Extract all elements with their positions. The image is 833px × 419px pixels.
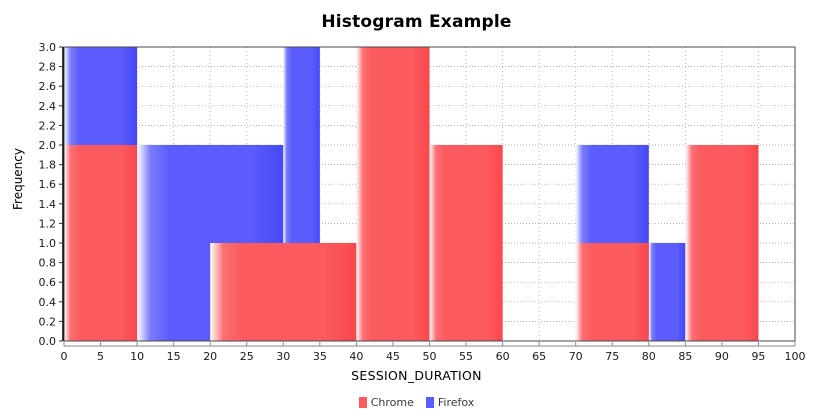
svg-text:1.0: 1.0: [39, 237, 57, 250]
svg-text:75: 75: [605, 350, 619, 363]
histogram-bar: [576, 243, 649, 341]
svg-text:3.0: 3.0: [39, 41, 57, 54]
svg-text:35: 35: [313, 350, 327, 363]
legend-label-firefox: Firefox: [438, 396, 474, 409]
histogram-bar: [649, 243, 686, 341]
svg-text:100: 100: [785, 350, 806, 363]
svg-text:80: 80: [642, 350, 656, 363]
svg-text:2.0: 2.0: [39, 139, 57, 152]
plot-area: 0.00.20.40.60.81.01.21.41.61.82.02.22.42…: [0, 0, 833, 419]
legend-label-chrome: Chrome: [371, 396, 414, 409]
svg-text:10: 10: [130, 350, 144, 363]
x-axis-ticks: 0510152025303540455055606570758085909510…: [61, 342, 806, 363]
x-axis-label: SESSION_DURATION: [0, 368, 833, 383]
svg-text:55: 55: [459, 350, 473, 363]
svg-text:1.4: 1.4: [39, 198, 57, 211]
chart-legend: Chrome Firefox: [0, 396, 833, 409]
histogram-bar: [685, 145, 758, 341]
svg-text:25: 25: [240, 350, 254, 363]
svg-text:70: 70: [569, 350, 583, 363]
svg-text:50: 50: [423, 350, 437, 363]
svg-text:65: 65: [532, 350, 546, 363]
histogram-chart: Histogram Example Frequency 0.00.20.40.6…: [0, 0, 833, 419]
legend-swatch-chrome: [359, 397, 367, 408]
legend-item-firefox[interactable]: Firefox: [426, 396, 474, 409]
svg-text:15: 15: [167, 350, 181, 363]
svg-text:0.6: 0.6: [39, 276, 57, 289]
svg-text:1.6: 1.6: [39, 178, 57, 191]
legend-item-chrome[interactable]: Chrome: [359, 396, 414, 409]
histogram-bar: [210, 243, 356, 341]
svg-text:0.8: 0.8: [39, 257, 57, 270]
histogram-bar: [430, 145, 503, 341]
svg-text:0.2: 0.2: [39, 315, 57, 328]
svg-text:45: 45: [386, 350, 400, 363]
svg-text:0: 0: [61, 350, 68, 363]
svg-text:1.8: 1.8: [39, 159, 57, 172]
svg-text:85: 85: [678, 350, 692, 363]
svg-text:90: 90: [715, 350, 729, 363]
svg-text:20: 20: [203, 350, 217, 363]
histogram-bar: [356, 47, 429, 341]
svg-text:2.4: 2.4: [39, 100, 57, 113]
svg-text:60: 60: [496, 350, 510, 363]
svg-text:2.8: 2.8: [39, 61, 57, 74]
svg-text:2.2: 2.2: [39, 119, 57, 132]
svg-text:95: 95: [751, 350, 765, 363]
svg-text:0.4: 0.4: [39, 296, 57, 309]
svg-text:5: 5: [97, 350, 104, 363]
svg-text:1.2: 1.2: [39, 217, 57, 230]
legend-swatch-firefox: [426, 397, 434, 408]
svg-text:0.0: 0.0: [39, 335, 57, 348]
svg-text:40: 40: [349, 350, 363, 363]
y-axis-ticks: 0.00.20.40.60.81.01.21.41.61.82.02.22.42…: [39, 41, 64, 348]
histogram-bar: [64, 145, 137, 341]
svg-text:30: 30: [276, 350, 290, 363]
svg-text:2.6: 2.6: [39, 80, 57, 93]
